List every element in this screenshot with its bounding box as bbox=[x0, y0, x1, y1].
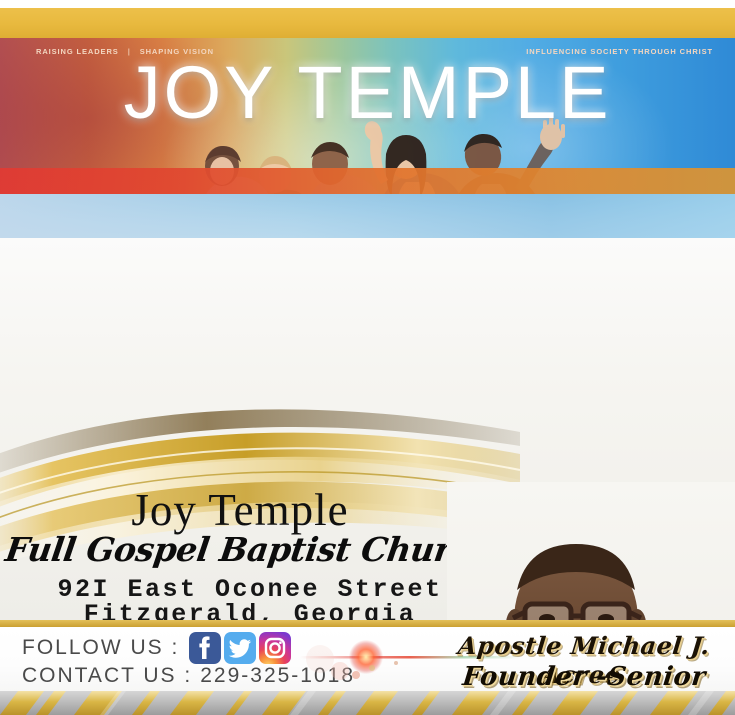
contact-us-label: CONTACT US : bbox=[22, 664, 192, 688]
tagline-separator: | bbox=[119, 47, 140, 56]
church-subtitle: Full Gospel Baptist Church bbox=[0, 530, 503, 569]
banner-bottom-tint bbox=[0, 194, 735, 238]
tagline-influencing-society: INFLUENCING SOCIETY THROUGH CHRIST bbox=[526, 38, 713, 64]
social-icons-group[interactable] bbox=[189, 632, 291, 664]
church-address-line2: Fitzgerald, Georgia bbox=[0, 600, 500, 620]
follow-us-row: FOLLOW US : bbox=[22, 632, 291, 664]
twitter-icon[interactable] bbox=[224, 632, 256, 664]
tagline-raising-leaders: RAISING LEADERS bbox=[36, 47, 119, 56]
follow-us-label: FOLLOW US : bbox=[22, 636, 179, 660]
church-flyer: JOY TEMPLE RAISING LEADERS | SHAPING VIS… bbox=[0, 0, 735, 715]
banner-title: JOY TEMPLE bbox=[0, 56, 735, 130]
bottom-striped-strip bbox=[0, 691, 735, 715]
top-gold-strip bbox=[0, 8, 735, 38]
instagram-icon[interactable] bbox=[259, 632, 291, 664]
banner-header: JOY TEMPLE RAISING LEADERS | SHAPING VIS… bbox=[0, 38, 735, 238]
banner-tagline-strip bbox=[0, 168, 735, 194]
footer-gold-divider bbox=[0, 620, 735, 627]
facebook-icon[interactable] bbox=[189, 632, 221, 664]
church-name: Joy Temple bbox=[0, 484, 480, 536]
main-content: Joy Temple Full Gospel Baptist Church 92… bbox=[0, 238, 735, 620]
bottom-stripe-pattern bbox=[0, 691, 735, 715]
tagline-shaping-vision: SHAPING VISION bbox=[140, 47, 214, 56]
tagline-left-group: RAISING LEADERS | SHAPING VISION bbox=[36, 38, 214, 64]
pastor-portrait-photo bbox=[447, 482, 735, 620]
